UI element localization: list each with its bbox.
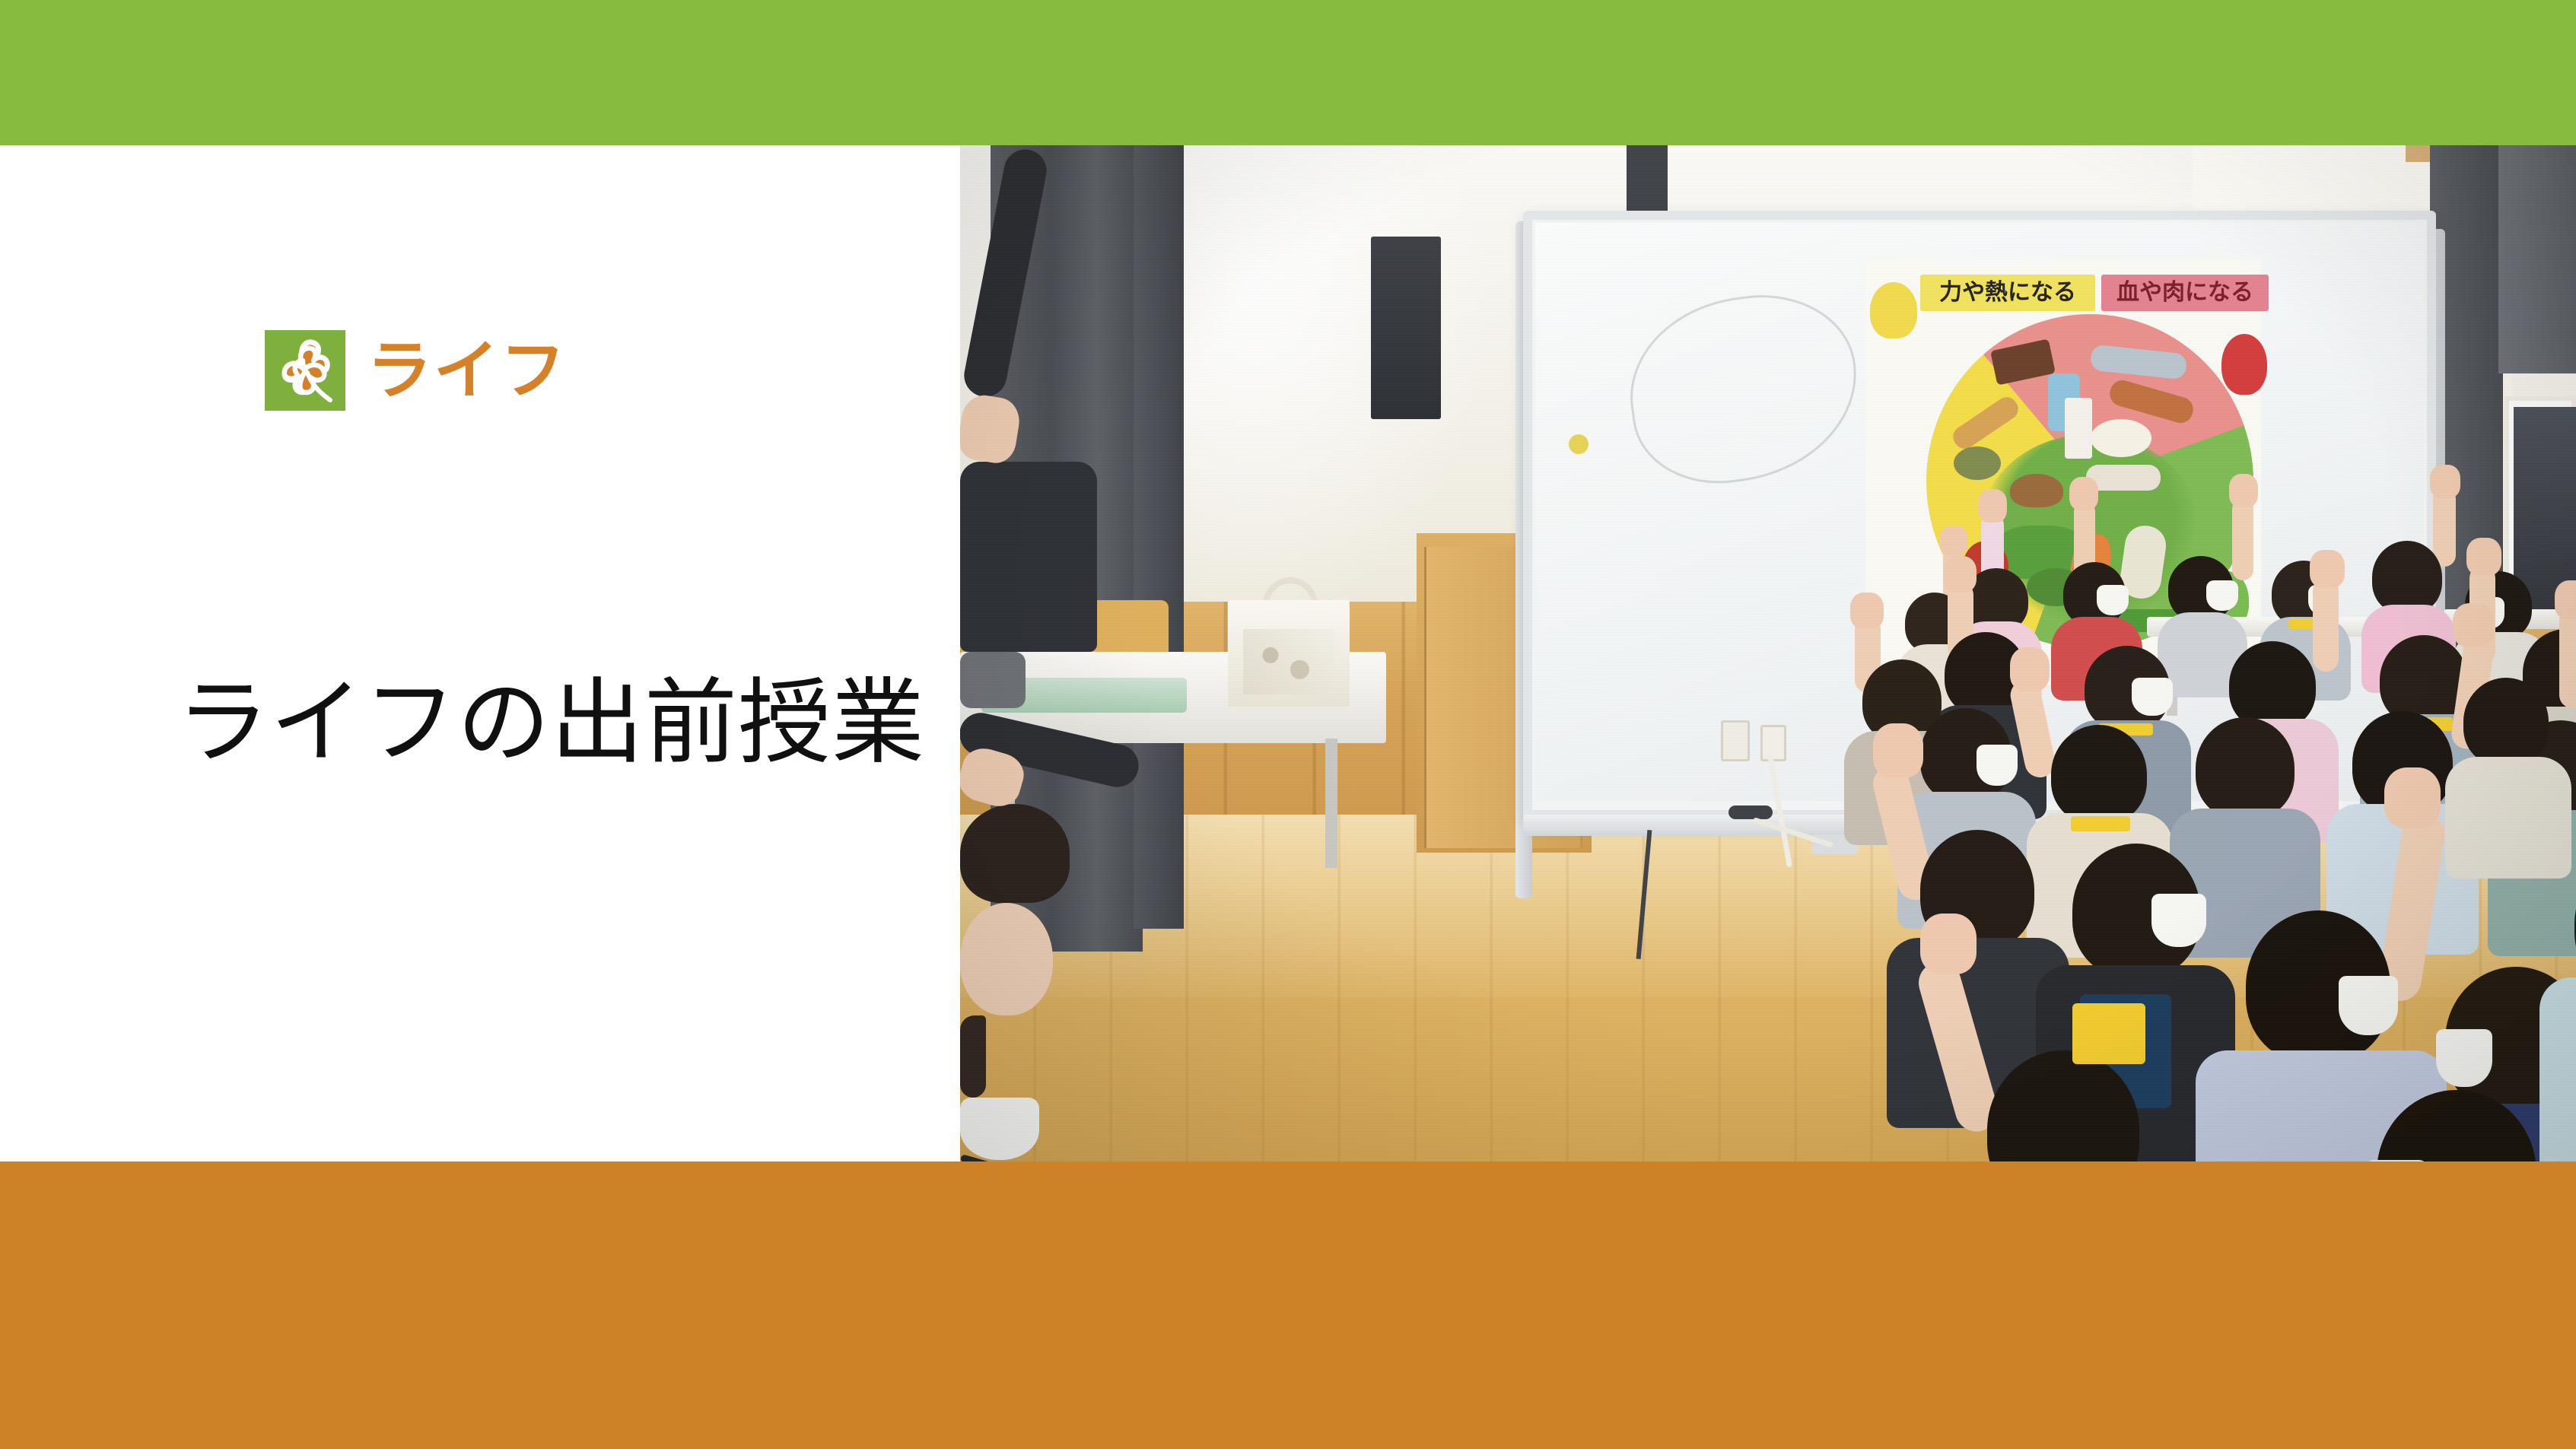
poster-banner-protein: 血や肉になる [2101,275,2269,311]
brand-logo: ライフ [265,330,563,411]
presenter-raised-arm [961,146,1051,401]
name-card-holder [2072,1003,2145,1064]
presenter-collar [960,652,1026,708]
poster-food-item [2010,474,2063,507]
brand-wordmark: ライフ [367,338,567,402]
clover-icon [265,330,345,411]
presenter-torso [960,462,1097,652]
presenter-hair [960,804,1070,903]
left-content-panel: ライフ ライフの出前授業 [0,145,960,1161]
face-mask-icon [960,1098,1039,1160]
poster-food-item [2091,419,2151,457]
top-accent-bar [0,0,2576,145]
bottom-accent-bar [0,1161,2576,1449]
presenter [960,145,1964,952]
presenter-head [960,903,1053,1015]
mascot-red-icon [2221,334,2267,395]
poster-food-item [2065,398,2092,459]
presenter-hair-side [960,1015,986,1098]
presenter-raised-hand [960,392,1022,466]
page-title: ライフの出前授業 [177,669,925,778]
classroom-photo: 力や熱になる 血や肉になる [960,145,2576,1161]
curtain-right-fold [2498,145,2576,373]
